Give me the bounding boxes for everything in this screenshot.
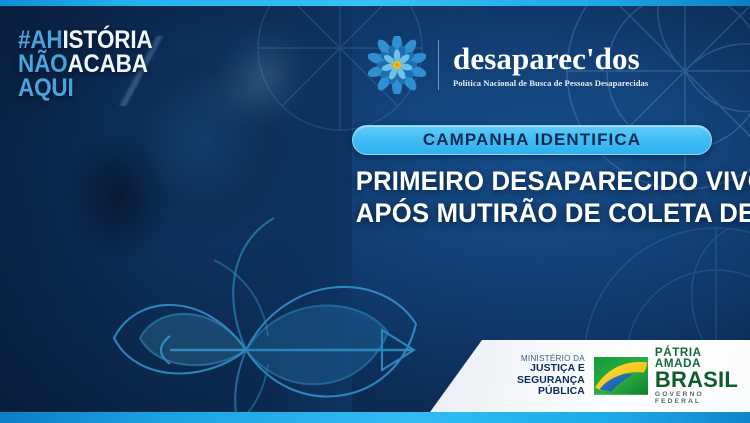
headline: PRIMEIRO DESAPARECIDO VIVO APÓS MUTIRÃO … (356, 166, 728, 230)
campaign-badge-label: CAMPANHA IDENTIFICA (423, 130, 641, 150)
ministry-line-3: SEGURANÇA PÚBLICA (490, 375, 585, 398)
bottom-accent-bar (0, 412, 750, 423)
campaign-hashtag: #AHISTÓRIA NÃOACABA AQUI (18, 28, 152, 100)
logo-divider (438, 40, 439, 90)
ministry-line-2: JUSTIÇA E (490, 363, 585, 375)
hashtag-line-2-rest: ACABA (67, 50, 147, 78)
brasil-line-3: GOVERNO FEDERAL (655, 392, 738, 406)
desaparecidos-logo: desaparec'dos Política Nacional de Busca… (368, 36, 648, 94)
logo-wordmark: desaparec'dos (453, 43, 648, 74)
wordmark-pre: desaparec (453, 41, 586, 76)
brazil-flag-logo-icon (594, 357, 648, 395)
hashtag-line-3: AQUI (18, 76, 152, 100)
logo-text-block: desaparec'dos Política Nacional de Busca… (451, 43, 648, 88)
logo-tagline: Política Nacional de Busca de Pessoas De… (453, 78, 648, 88)
campaign-badge: CAMPANHA IDENTIFICA (352, 125, 712, 155)
hashtag-line-2: NÃOACABA (18, 52, 152, 76)
campaign-banner: #AHISTÓRIA NÃOACABA AQUI (0, 0, 750, 423)
wordmark-dot: ' (586, 41, 595, 76)
headline-line-2: APÓS MUTIRÃO DE COLETA DE DNA (356, 198, 728, 230)
government-footer: MINISTÉRIO DA JUSTIÇA E SEGURANÇA PÚBLIC… (430, 340, 750, 412)
headline-line-1: PRIMEIRO DESAPARECIDO VIVO (356, 166, 728, 198)
top-accent-bar (0, 0, 750, 6)
hashtag-line-3-accent: AQUI (18, 74, 74, 102)
wordmark-post: dos (595, 41, 640, 76)
flower-mandala-icon (368, 36, 426, 94)
brasil-wordmark: PÁTRIA AMADA BRASIL GOVERNO FEDERAL (655, 347, 738, 406)
ministry-logo: MINISTÉRIO DA JUSTIÇA E SEGURANÇA PÚBLIC… (490, 354, 585, 398)
brasil-government-logo: PÁTRIA AMADA BRASIL GOVERNO FEDERAL (594, 347, 738, 406)
ministry-line-1: MINISTÉRIO DA (490, 354, 585, 363)
brasil-line-2: BRASIL (655, 369, 738, 391)
hashtag-line-1: #AHISTÓRIA (18, 28, 152, 52)
